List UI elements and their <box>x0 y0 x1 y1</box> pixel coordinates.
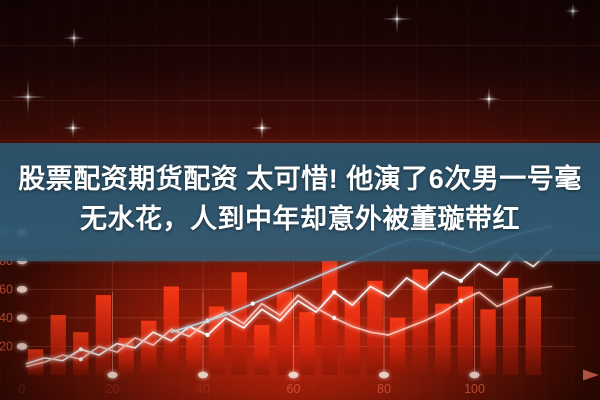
y-tick-label: 60 <box>0 282 13 296</box>
x-tick-label: 100 <box>464 382 485 396</box>
title-overlay-fade <box>0 255 600 265</box>
page-title: 股票配资期货配资 太可惜! 他演了6次男一号毫 无水花，人到中年却意外被董璇带红 <box>0 159 600 239</box>
background-hline-1 <box>0 45 600 46</box>
x-tick-label: 20 <box>106 382 120 396</box>
x-tick-label: 80 <box>377 382 391 396</box>
background-hline-2 <box>0 100 600 101</box>
y-tick-label: 20 <box>0 339 13 353</box>
x-tick-label: 60 <box>287 382 301 396</box>
y-tick-label: 40 <box>0 311 13 325</box>
origin-label: 0 <box>19 382 26 396</box>
background-hline-3 <box>0 140 600 141</box>
page-title-line-1: 股票配资期货配资 太可惜! 他演了6次男一号毫 <box>0 159 600 199</box>
x-tick-label: 40 <box>196 382 210 396</box>
background-top-dark <box>0 0 600 150</box>
page-title-line-2: 无水花，人到中年却意外被董璇带红 <box>0 199 600 239</box>
thumbnail-canvas: 20406080100204060801000 股票配资期货配资 太可惜! 他演… <box>0 0 600 400</box>
